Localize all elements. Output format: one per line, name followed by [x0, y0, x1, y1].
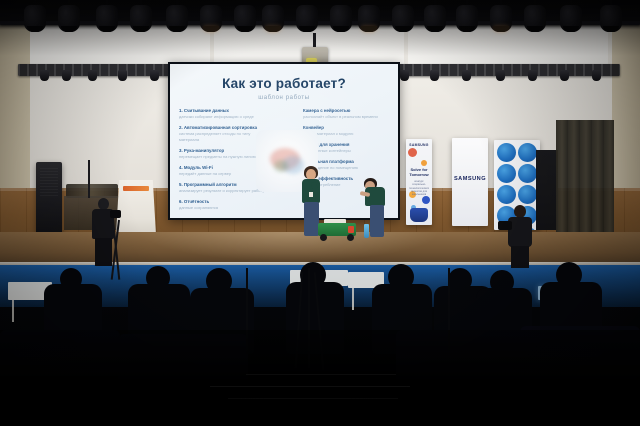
stage-light-icon	[166, 0, 188, 34]
truss-fixture-icon	[430, 70, 439, 81]
bullet-body: передаёт данные на сервер	[179, 171, 265, 177]
slide-bullet: Камера с нейросетью распознаёт объект в …	[303, 108, 389, 120]
press-wall-logo-icon	[518, 164, 537, 183]
lanyard-badge	[309, 192, 313, 197]
mic-stand	[88, 160, 90, 198]
bullet-body: данные сохраняются	[179, 205, 265, 211]
slide-subtitle: шаблон работы	[170, 95, 398, 101]
pa-speaker	[36, 162, 62, 234]
slide-bullet: 5. Программный алгоритм анализирует резу…	[179, 182, 265, 194]
camera-icon	[498, 221, 512, 230]
stage-light-icon	[392, 0, 414, 34]
truss-fixture-icon	[118, 70, 127, 81]
stage-light-icon	[130, 0, 152, 34]
samsung-wordmark: SAMSUNG	[452, 176, 488, 182]
banner-brand-label: SAMSUNG	[406, 143, 432, 147]
bullet-body: распознаёт объект в реальном времени	[303, 114, 389, 120]
robot-project	[318, 221, 358, 241]
truss-fixture-icon	[40, 70, 49, 81]
photographer-right	[500, 205, 540, 267]
banner-headline: Solve for Tomorrow	[406, 167, 432, 177]
slide-bullet: 4. Модуль Wi-Fi передаёт данные на серве…	[179, 165, 265, 177]
truss-fixture-icon	[462, 70, 471, 81]
stage-light-icon	[24, 0, 46, 34]
stage-light-icon	[490, 0, 512, 34]
truss-fixture-icon	[400, 70, 409, 81]
slide-bullet: 3. Рука-манипулятор перемещает предметы …	[179, 148, 265, 160]
press-wall-logo-icon	[518, 185, 537, 204]
press-wall-logo-icon	[497, 164, 516, 183]
bullet-body: датчики собирают информацию о среде	[179, 114, 265, 120]
bullet-body: перемещает предметы на нужную линию	[179, 154, 265, 160]
truss-fixture-icon	[528, 70, 537, 81]
slide-column-left: 1. Считывание данных датчики собирают ин…	[179, 108, 265, 216]
camera-icon	[110, 210, 121, 218]
auditorium-photo: Как это работает? шаблон работы 1. Считы…	[0, 0, 640, 426]
press-wall-logo-icon	[497, 143, 516, 162]
water-bottle	[364, 224, 369, 238]
stage-light-icon	[600, 0, 622, 34]
slide-bullet: 6. Отчётность данные сохраняются	[179, 199, 265, 211]
stage-light-icon	[200, 0, 222, 34]
step-edge	[228, 398, 398, 399]
stage-light-icon	[96, 0, 118, 34]
stage-floor-highlight	[140, 232, 440, 262]
press-wall-logo-icon	[518, 143, 537, 162]
truss-fixture-icon	[592, 70, 601, 81]
step-edge	[210, 386, 410, 387]
slide-title: Как это работает?	[170, 76, 398, 91]
stage-light-icon	[58, 0, 80, 34]
presenter-assistant	[358, 178, 388, 238]
stage-light-icon	[456, 0, 478, 34]
podium-logo	[123, 186, 149, 191]
truss-fixture-icon	[88, 70, 97, 81]
stage-light-icon	[424, 0, 446, 34]
stage-light-icon	[358, 0, 380, 34]
banner-samsung: SAMSUNG	[452, 138, 488, 226]
stage-light-icon	[262, 0, 284, 34]
slide-bullet: 2. Автоматизированная сортировка система…	[179, 125, 265, 142]
truss-fixture-icon	[62, 70, 71, 81]
truss-fixture-icon	[560, 70, 569, 81]
bullet-body: система распределяет отходы по типу мате…	[179, 131, 265, 142]
truss-fixture-icon	[496, 70, 505, 81]
stage-light-icon	[560, 0, 582, 34]
stage-light-icon	[234, 0, 256, 34]
stage-light-icon	[330, 0, 352, 34]
foreground-shadow	[0, 330, 640, 426]
robot-wheel	[347, 234, 354, 241]
stage-light-icon	[296, 0, 318, 34]
slide-bullet: 1. Считывание данных датчики собирают ин…	[179, 108, 265, 120]
press-wall-logo-icon	[497, 185, 516, 204]
stage-light-icon	[524, 0, 546, 34]
robot-accent-part	[348, 226, 354, 233]
robot-wheel	[320, 234, 327, 241]
truss-fixture-icon	[150, 70, 159, 81]
banner-solve-for-tomorrow: SAMSUNG Solve for Tomorrow конкурс социа…	[406, 139, 432, 225]
banner-subtext: конкурс социально-технологических проект…	[408, 180, 430, 197]
banner-illustration	[410, 208, 428, 222]
bullet-body: анализирует результат и корректирует раб…	[179, 188, 265, 194]
step-edge	[246, 374, 396, 375]
